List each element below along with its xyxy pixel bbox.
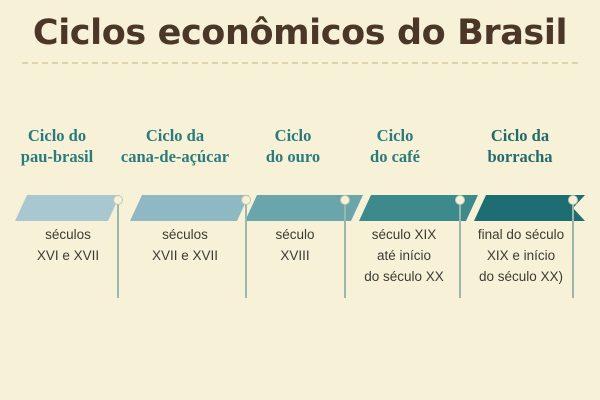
- timeline-segment-1[interactable]: [15, 195, 120, 221]
- cycle-heading-5: Ciclo da borracha: [462, 125, 578, 167]
- cycle-heading-1-line2: pau-brasil: [4, 146, 110, 167]
- cycle-period-1: séculos XVI e XVII: [18, 225, 118, 267]
- marker-dot-3: [340, 195, 350, 205]
- timeline-segment-2[interactable]: [130, 195, 249, 221]
- timeline: Ciclo do pau-brasil Ciclo da cana-de-açú…: [0, 125, 600, 325]
- cycle-period-2: séculos XVII e XVII: [128, 225, 242, 267]
- cycle-period-3: século XVIII: [252, 225, 338, 267]
- cycle-heading-3-line1: Ciclo: [245, 125, 341, 146]
- cycle-heading-2-line1: Ciclo da: [110, 125, 240, 146]
- cycle-heading-2: Ciclo da cana-de-açúcar: [110, 125, 240, 167]
- cycle-heading-1-line1: Ciclo do: [4, 125, 110, 146]
- infographic-canvas: Ciclos econômicos do Brasil Ciclo do pau…: [0, 0, 600, 400]
- title-block: Ciclos econômicos do Brasil: [0, 14, 600, 53]
- cycle-period-5: final do século XIX e início do século X…: [466, 225, 576, 288]
- title-divider: [22, 62, 578, 64]
- marker-stem-3: [344, 201, 346, 298]
- cycle-heading-2-line2: cana-de-açúcar: [110, 146, 240, 167]
- marker-dot-4: [455, 195, 465, 205]
- marker-dot-2: [241, 195, 251, 205]
- marker-dot-1: [113, 195, 123, 205]
- cycle-heading-4-line2: do café: [345, 146, 445, 167]
- marker-stem-2: [245, 201, 247, 298]
- cycle-heading-1: Ciclo do pau-brasil: [4, 125, 110, 167]
- marker-stem-4: [459, 201, 461, 298]
- cycle-heading-4: Ciclo do café: [345, 125, 445, 167]
- marker-dot-5: [568, 195, 578, 205]
- cycle-heading-5-line1: Ciclo da: [462, 125, 578, 146]
- cycle-heading-3: Ciclo do ouro: [245, 125, 341, 167]
- cycle-heading-4-line1: Ciclo: [345, 125, 445, 146]
- cycle-heading-3-line2: do ouro: [245, 146, 341, 167]
- page-title: Ciclos econômicos do Brasil: [0, 14, 600, 53]
- cycle-heading-5-line2: borracha: [462, 146, 578, 167]
- timeline-band: [0, 195, 600, 221]
- cycle-period-4: século XIX até início do século XX: [351, 225, 457, 288]
